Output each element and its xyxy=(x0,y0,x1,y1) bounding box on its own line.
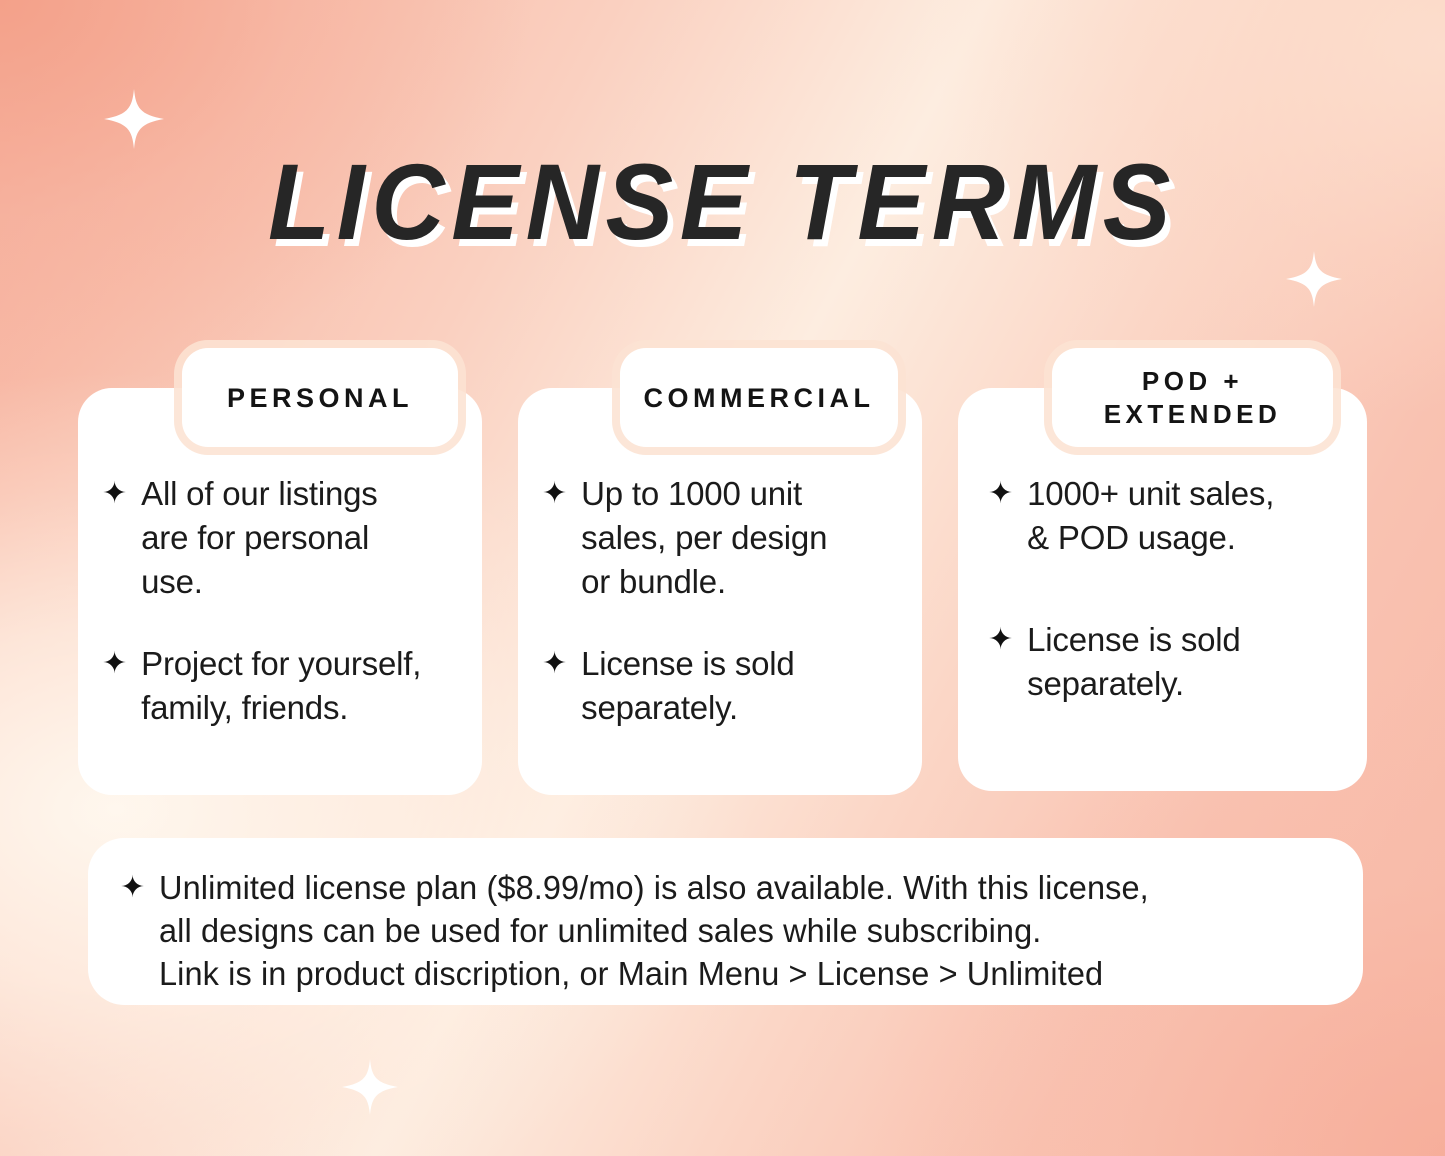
page-title: LICENSE TERMS xyxy=(268,146,1177,258)
star-bullet-icon: ✦ xyxy=(102,472,127,516)
card-header-label: POD + EXTENDED xyxy=(1104,365,1282,431)
list-item-text: Up to 1000 unit sales, per design or bun… xyxy=(581,472,827,604)
star-bullet-icon: ✦ xyxy=(542,642,567,686)
list-item: ✦ Up to 1000 unit sales, per design or b… xyxy=(542,472,896,604)
sparkle-top-left-icon xyxy=(104,88,164,150)
list-item: ✦ All of our listings are for personal u… xyxy=(102,472,456,604)
unlimited-plan-text: Unlimited license plan ($8.99/mo) is als… xyxy=(159,866,1149,995)
star-bullet-icon: ✦ xyxy=(542,472,567,516)
star-bullet-icon: ✦ xyxy=(988,618,1013,662)
list-item-text: Project for yourself, family, friends. xyxy=(141,642,421,730)
card-body-pod-extended: ✦ 1000+ unit sales, & POD usage. ✦ Licen… xyxy=(958,472,1367,764)
list-item-text: License is sold separately. xyxy=(581,642,794,730)
card-body-personal: ✦ All of our listings are for personal u… xyxy=(78,472,482,730)
license-card-personal[interactable]: ✦ All of our listings are for personal u… xyxy=(78,388,482,795)
star-bullet-icon: ✦ xyxy=(102,642,127,686)
unlimited-plan-banner[interactable]: ✦ Unlimited license plan ($8.99/mo) is a… xyxy=(88,838,1363,1005)
sparkle-bottom-left-icon xyxy=(342,1058,398,1116)
license-terms-graphic: LICENSE TERMS ✦ All of our listings are … xyxy=(0,0,1445,1156)
license-card-pod-extended[interactable]: ✦ 1000+ unit sales, & POD usage. ✦ Licen… xyxy=(958,388,1367,791)
list-item: ✦ Project for yourself, family, friends. xyxy=(102,642,456,730)
unlimited-plan-banner-inner: ✦ Unlimited license plan ($8.99/mo) is a… xyxy=(88,838,1363,995)
sparkle-top-right-icon xyxy=(1286,250,1342,308)
list-item-text: 1000+ unit sales, & POD usage. xyxy=(1027,472,1274,560)
list-item: ✦ License is sold separately. xyxy=(988,618,1341,706)
page-title-wrap: LICENSE TERMS xyxy=(0,146,1445,258)
license-card-commercial[interactable]: ✦ Up to 1000 unit sales, per design or b… xyxy=(518,388,922,795)
card-header-label: COMMERCIAL xyxy=(644,381,875,415)
card-header-pill-pod-extended[interactable]: POD + EXTENDED xyxy=(1052,348,1333,447)
list-item-text: License is sold separately. xyxy=(1027,618,1240,706)
list-item: ✦ License is sold separately. xyxy=(542,642,896,730)
list-item: ✦ 1000+ unit sales, & POD usage. xyxy=(988,472,1341,560)
list-item-text: All of our listings are for personal use… xyxy=(141,472,377,604)
star-bullet-icon: ✦ xyxy=(120,866,145,909)
card-header-pill-commercial[interactable]: COMMERCIAL xyxy=(620,348,898,447)
star-bullet-icon: ✦ xyxy=(988,472,1013,516)
card-header-label: PERSONAL xyxy=(227,381,413,415)
card-header-pill-personal[interactable]: PERSONAL xyxy=(182,348,458,447)
card-body-commercial: ✦ Up to 1000 unit sales, per design or b… xyxy=(518,472,922,730)
